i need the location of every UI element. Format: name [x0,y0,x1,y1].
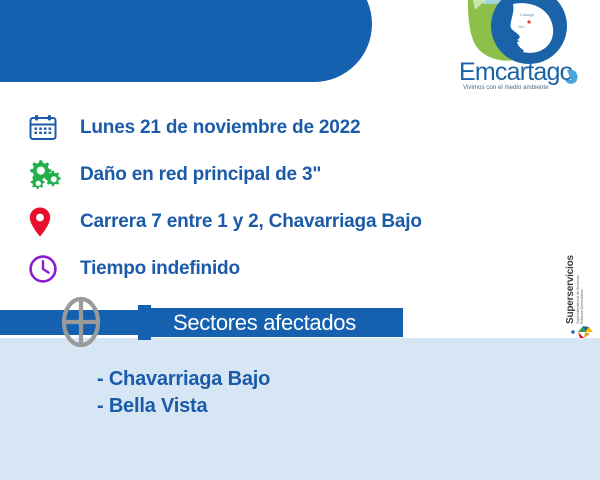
svg-text:Valle: Valle [517,25,524,29]
clock-icon [28,254,80,284]
superservicios-text: Superservicios Superintendencia de Servi… [566,236,588,324]
info-text-duration: Tiempo indefinido [80,258,240,280]
sectors-band: Sectores afectados [0,305,600,340]
poster-root: Suspensión de Acueducto Cartago Valle Em… [0,0,600,480]
svg-text:Cartago: Cartago [520,12,535,17]
sectors-list: - Chavarriaga Bajo - Bella Vista [97,366,270,420]
superservicios-pinwheel-icon [570,324,596,340]
superservicios-subtitle-2: Públicos Domiciliarios [580,236,584,324]
superservicios-logo: Superservicios Superintendencia de Servi… [566,238,600,348]
svg-text:Emcartago: Emcartago [459,58,573,86]
info-list: Lunes 21 de noviembre de 2022 Daño en re… [0,104,600,292]
info-text-date: Lunes 21 de noviembre de 2022 [80,117,360,139]
sectors-panel [0,338,600,480]
sectors-title-label: Sectores afectados [173,310,356,336]
info-row-duration: Tiempo indefinido [0,245,600,292]
calendar-icon [28,113,80,143]
info-row-cause: Daño en red principal de 3" [0,151,600,198]
valve-wheel-icon [55,296,107,348]
sectors-title-bar: Sectores afectados [151,308,403,337]
list-item: - Chavarriaga Bajo [97,366,270,393]
emcartago-logo: Cartago Valle Emcartago Vivimos con el m… [455,0,585,96]
info-row-location: Carrera 7 entre 1 y 2, Chavarriaga Bajo [0,198,600,245]
list-item: - Bella Vista [97,393,270,420]
emcartago-logo-icon: Cartago Valle Emcartago Vivimos con el m… [455,0,585,96]
gears-icon [28,159,80,191]
header-banner [0,0,372,82]
info-text-location: Carrera 7 entre 1 y 2, Chavarriaga Bajo [80,211,422,233]
info-row-date: Lunes 21 de noviembre de 2022 [0,104,600,151]
location-pin-icon [28,206,80,238]
pipe-flange [138,305,151,340]
superservicios-name: Superservicios [566,236,576,324]
info-text-cause: Daño en red principal de 3" [80,164,321,186]
svg-text:Vivimos con el medio ambiente: Vivimos con el medio ambiente [463,84,549,91]
